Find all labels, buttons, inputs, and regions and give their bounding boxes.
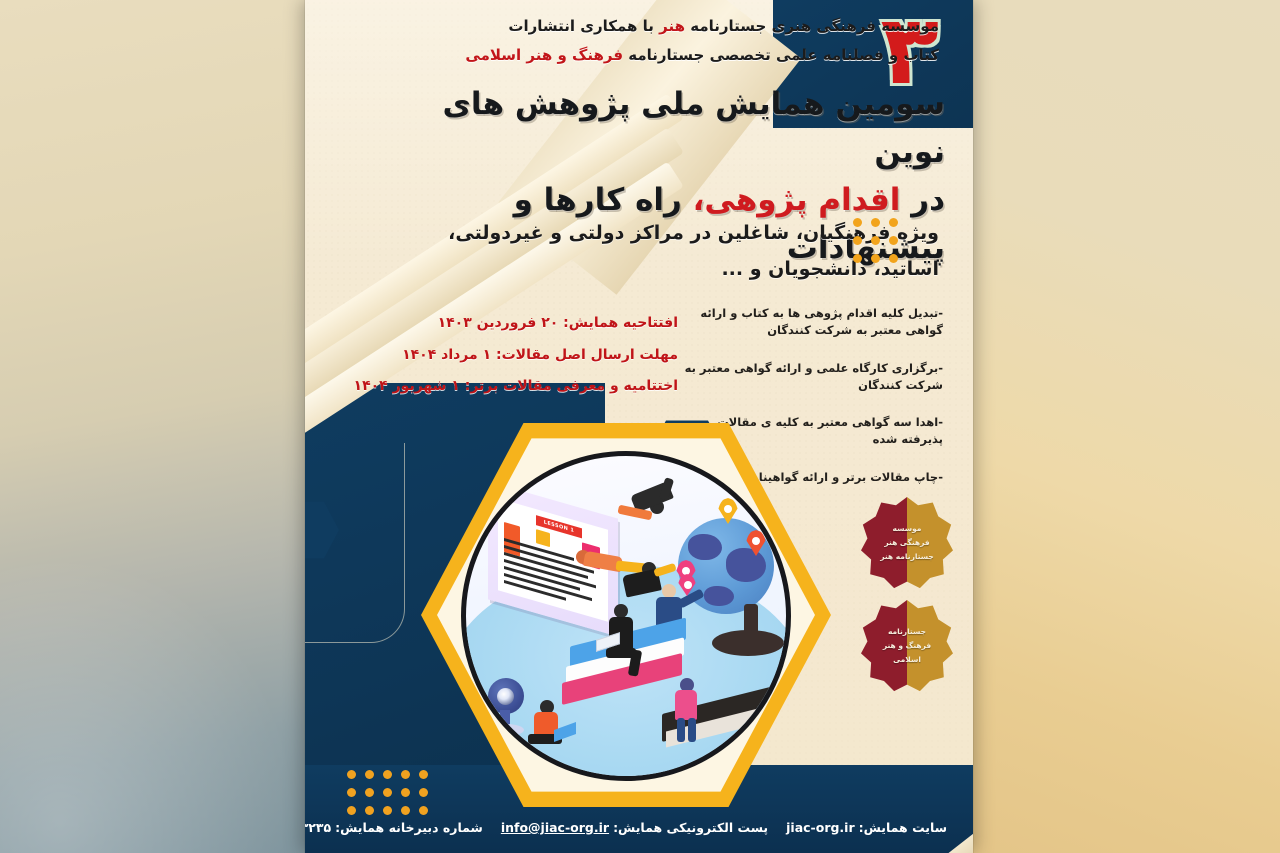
title-line-2-highlight: اقدام پژوهی، xyxy=(693,182,901,218)
title-line-1: سومین همایش ملی پژوهش های نوین xyxy=(385,80,945,176)
webcam-lens xyxy=(497,688,514,705)
organizer-header: موسسه فرهنگی هنری جستارنامه هنر با همکار… xyxy=(419,12,939,71)
footer-email-label: پست الکترونیکی همایش: xyxy=(613,820,768,835)
seal-journal-text: جستارنامه فرهنگ و هنر اسلامی xyxy=(875,625,939,667)
title-line-2-pre: در xyxy=(900,182,945,218)
seal-line: اسلامی xyxy=(883,653,931,667)
dot xyxy=(347,788,356,797)
footer-phone-value: ۰۹۱۷۹۷۰۳۲۳۵ xyxy=(305,820,331,835)
seal-line: فرهنگ و هنر xyxy=(883,639,931,653)
backdrop-right-gradient xyxy=(960,0,1280,853)
dot xyxy=(853,236,862,245)
date-opening: افتتاحیه همایش: ۲۰ فروردین ۱۴۰۳ xyxy=(388,308,678,340)
dot xyxy=(347,806,356,815)
dot xyxy=(853,218,862,227)
dot xyxy=(401,788,410,797)
date-closing: اختتامیه و معرفی مقالات برتر: ۱ شهریور ۱… xyxy=(388,371,678,403)
dot xyxy=(383,806,392,815)
backdrop-glow xyxy=(0,553,300,853)
seal-line: فرهنگی هنر xyxy=(880,536,934,550)
footer-site-value[interactable]: jiac-org.ir xyxy=(786,820,855,835)
contact-footer: سایت همایش: jiac-org.ir پست الکترونیکی ه… xyxy=(331,820,947,835)
benefit-item: -تبدیل کلیه اقدام پژوهی ها به کتاب و ارا… xyxy=(683,305,943,340)
dot xyxy=(401,770,410,779)
date-submission-deadline: مهلت ارسال اصل مقالات: ۱ مرداد ۱۴۰۴ xyxy=(388,340,678,372)
dot xyxy=(871,254,880,263)
seal-line: موسسه xyxy=(880,522,934,536)
organizer-line-1: موسسه فرهنگی هنری جستارنامه هنر با همکار… xyxy=(419,12,939,41)
dot xyxy=(383,770,392,779)
webcam-base xyxy=(488,724,524,736)
dot xyxy=(889,218,898,227)
dot xyxy=(889,236,898,245)
globe-landmass xyxy=(726,548,766,582)
dot xyxy=(871,218,880,227)
person-torso xyxy=(675,690,697,720)
dot xyxy=(383,788,392,797)
globe-landmass xyxy=(688,534,722,560)
person-leg xyxy=(677,718,685,742)
organizer-line-1-highlight: هنر xyxy=(659,17,685,35)
illustration-hexagon-frame: LESSON 1 xyxy=(421,415,831,815)
organizer-line-2: کتاب و فصلنامه علمی تخصصی جستارنامه فرهن… xyxy=(419,41,939,70)
dot xyxy=(365,806,374,815)
dot xyxy=(401,806,410,815)
person-leg xyxy=(688,718,696,742)
seal-institute-text: موسسه فرهنگی هنر جستارنامه هنر xyxy=(872,522,942,564)
footer-phone: شماره دبیرخانه همایش: ۰۹۱۷۹۷۰۳۲۳۵ xyxy=(305,820,483,835)
footer-site-label: سایت همایش: xyxy=(859,820,947,835)
person-head xyxy=(614,604,628,618)
dot-grid-upper xyxy=(853,218,898,263)
seal-line: جستارنامه هنر xyxy=(880,550,934,564)
globe-landmass xyxy=(704,586,734,606)
elearning-illustration: LESSON 1 xyxy=(461,451,791,781)
footer-site: سایت همایش: jiac-org.ir xyxy=(786,820,947,835)
person-head xyxy=(662,584,676,598)
globe-base xyxy=(712,630,784,656)
screenshot-stage: ۳ موسسه فرهنگی هنری جستارنامه هنر با همک… xyxy=(0,0,1280,853)
dot xyxy=(365,788,374,797)
dot xyxy=(871,236,880,245)
dot xyxy=(853,254,862,263)
footer-email-value[interactable]: info@jiac-org.ir xyxy=(501,820,609,835)
organizer-line-2-pre: کتاب و فصلنامه علمی تخصصی جستارنامه xyxy=(623,46,939,64)
seal-line: جستارنامه xyxy=(883,625,931,639)
footer-email: پست الکترونیکی همایش: info@jiac-org.ir xyxy=(501,820,768,835)
organizer-line-1-pre: موسسه فرهنگی هنری جستارنامه xyxy=(685,17,939,35)
important-dates: افتتاحیه همایش: ۲۰ فروردین ۱۴۰۳ مهلت ارس… xyxy=(388,308,678,403)
dot xyxy=(889,254,898,263)
benefit-item: -برگزاری کارگاه علمی و ارائه گواهی معتبر… xyxy=(683,360,943,395)
dot xyxy=(365,770,374,779)
dot xyxy=(347,770,356,779)
conference-poster: ۳ موسسه فرهنگی هنری جستارنامه هنر با همک… xyxy=(305,0,973,853)
organizer-line-2-highlight: فرهنگ و هنر اسلامی xyxy=(465,46,623,64)
dot-grid-lower xyxy=(347,770,428,815)
organizer-line-1-post: با همکاری انتشارات xyxy=(508,17,659,35)
board-swatch-yellow xyxy=(536,529,550,547)
footer-phone-label: شماره دبیرخانه همایش: xyxy=(335,820,483,835)
